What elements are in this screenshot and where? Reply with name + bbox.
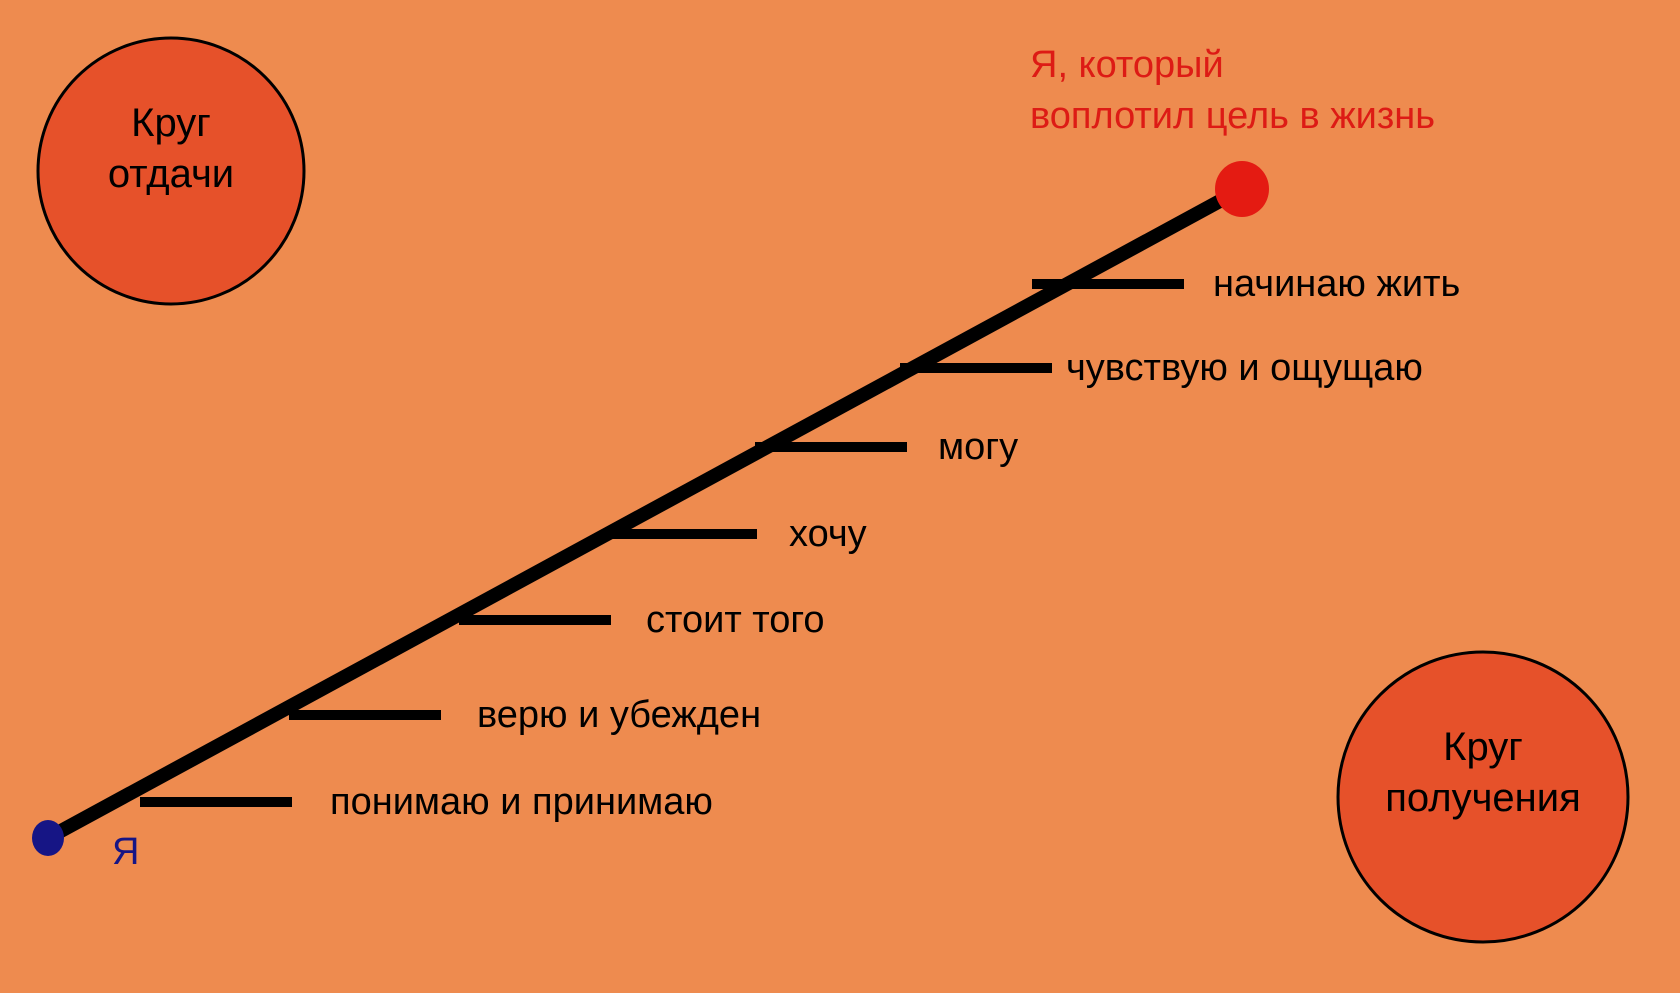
step-label-hochu: хочу	[789, 515, 867, 553]
end-dot	[1215, 161, 1269, 217]
goal-achieved-label: Я, который воплотил цель в жизнь	[1030, 40, 1435, 143]
circle-of-receiving	[1338, 652, 1628, 942]
start-label-ya: Я	[112, 833, 139, 871]
step-label-mogu: могу	[938, 428, 1018, 466]
start-dot	[32, 820, 64, 856]
step-label-chuvstvuyu-i-oshchushchayu: чувствую и ощущаю	[1066, 349, 1423, 387]
step-label-veryu-i-ubezhden: верю и убежден	[477, 696, 761, 734]
step-label-ponimayu-i-prinimayu: понимаю и принимаю	[330, 783, 713, 821]
circle-of-giving	[38, 38, 304, 304]
step-label-nachinayu-zhit: начинаю жить	[1213, 265, 1460, 303]
step-label-stoit-togo: стоит того	[646, 601, 825, 639]
diagram-canvas: Круг отдачи Круг получения Я, который во…	[0, 0, 1680, 993]
diagram-graphics	[0, 0, 1680, 993]
